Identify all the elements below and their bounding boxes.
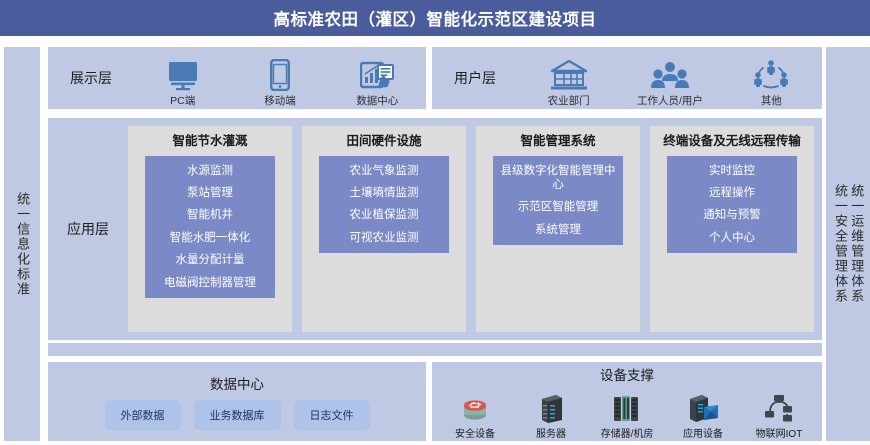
sidebar-left-label: 统一信息化标准 (15, 192, 29, 297)
architecture-diagram: 高标准农田（灌区）智能化示范区建设项目 统一信息化标准 统一安全管理体系 统一运… (0, 0, 870, 445)
device-item-iot[interactable]: 物联网IOT (748, 391, 810, 440)
user-item-other-label: 其他 (761, 93, 782, 108)
app-group-smart-irrigation-card: 水源监测 泵站管理 智能机井 智能水肥一体化 水量分配计量 电磁阀控制器管理 (145, 156, 275, 298)
app-item[interactable]: 水源监测 (187, 162, 233, 180)
tablet-chart-icon (360, 57, 394, 91)
server-icon (538, 391, 564, 423)
monitor-icon (167, 57, 199, 91)
app-group-terminal-transmission-card: 实时监控 远程操作 通知与预警 个人中心 (667, 156, 797, 254)
user-item-staff-label: 工作人员/用户 (637, 93, 703, 108)
app-group-management-system-card: 县级数字化智能管理中心 示范区智能管理 系统管理 (493, 156, 623, 246)
device-support-items: 安全设备 (444, 391, 810, 440)
user-item-agriculture-dept[interactable]: 农业部门 (531, 57, 607, 108)
device-support-title: 设备支撑 (600, 364, 654, 384)
app-item[interactable]: 个人中心 (709, 229, 755, 247)
app-item[interactable]: 可视农业监测 (349, 229, 418, 247)
app-item[interactable]: 系统管理 (535, 221, 581, 239)
display-item-datacenter-label: 数据中心 (356, 93, 398, 108)
device-item-storage[interactable]: 存储器/机房 (596, 391, 658, 440)
people-cycle-icon (753, 57, 789, 91)
people-group-icon (651, 57, 689, 91)
display-item-pc-label: PC端 (170, 93, 195, 108)
display-item-datacenter[interactable]: 数据中心 (339, 57, 415, 108)
data-center-title: 数据中心 (210, 373, 264, 393)
app-item[interactable]: 农业气象监测 (349, 162, 418, 180)
device-item-security[interactable]: 安全设备 (444, 391, 506, 440)
data-center-items: 外部数据 业务数据库 日志文件 (105, 400, 370, 430)
data-center-item-business-db[interactable]: 业务数据库 (194, 400, 281, 430)
application-layer-band: 应用层 智能节水灌溉 水源监测 泵站管理 智能机井 智能水肥一体化 水量分配计量… (48, 118, 822, 340)
security-router-icon (458, 391, 492, 423)
device-support-band: 设备支撑 (432, 362, 822, 441)
device-item-storage-label: 存储器/机房 (601, 425, 654, 440)
device-item-security-label: 安全设备 (455, 425, 495, 440)
display-item-pc[interactable]: PC端 (145, 57, 221, 108)
mobile-icon (270, 57, 290, 91)
device-item-application-label: 应用设备 (683, 425, 723, 440)
app-group-management-system: 智能管理系统 县级数字化智能管理中心 示范区智能管理 系统管理 (476, 126, 640, 332)
data-center-band: 数据中心 外部数据 业务数据库 日志文件 (48, 362, 426, 441)
app-group-field-hardware-title: 田间硬件设施 (346, 134, 421, 150)
data-center-item-log-file[interactable]: 日志文件 (294, 400, 370, 430)
application-device-icon (687, 391, 719, 423)
user-item-agriculture-dept-label: 农业部门 (548, 93, 590, 108)
sidebar-left-standard: 统一信息化标准 (4, 47, 40, 441)
iot-network-icon (763, 391, 795, 423)
government-building-icon (549, 57, 589, 91)
sidebar-right-ops-label: 统一运维管理体系 (849, 184, 863, 304)
user-item-other[interactable]: 其他 (733, 57, 809, 108)
display-item-mobile[interactable]: 移动端 (242, 57, 318, 108)
app-group-field-hardware: 田间硬件设施 农业气象监测 土壤墒情监测 农业植保监测 可视农业监测 (302, 126, 466, 332)
app-item[interactable]: 泵站管理 (187, 184, 233, 202)
app-group-terminal-transmission-title: 终端设备及无线远程传输 (663, 134, 801, 150)
app-item[interactable]: 实时监控 (709, 162, 755, 180)
app-group-terminal-transmission: 终端设备及无线远程传输 实时监控 远程操作 通知与预警 个人中心 (650, 126, 814, 332)
app-group-field-hardware-card: 农业气象监测 土壤墒情监测 农业植保监测 可视农业监测 (319, 156, 449, 254)
device-item-iot-label: 物联网IOT (756, 425, 803, 440)
sidebar-right-security-label: 统一安全管理体系 (833, 184, 847, 304)
page-title: 高标准农田（灌区）智能化示范区建设项目 (274, 6, 597, 30)
user-layer-items: 农业部门 工作人员/用户 (518, 46, 822, 110)
app-item[interactable]: 示范区智能管理 (518, 198, 599, 216)
app-group-smart-irrigation: 智能节水灌溉 水源监测 泵站管理 智能机井 智能水肥一体化 水量分配计量 电磁阀… (128, 126, 292, 332)
application-layer-groups: 智能节水灌溉 水源监测 泵站管理 智能机井 智能水肥一体化 水量分配计量 电磁阀… (128, 118, 822, 340)
app-item[interactable]: 农业植保监测 (349, 206, 418, 224)
storage-rack-icon (612, 391, 642, 423)
user-layer-band: 用户层 农业部门 (432, 47, 822, 109)
application-layer-label: 应用层 (48, 219, 128, 239)
device-item-server-label: 服务器 (536, 425, 566, 440)
app-item[interactable]: 水量分配计量 (175, 251, 244, 269)
user-layer-label: 用户层 (432, 68, 518, 88)
display-layer-items: PC端 移动端 (134, 46, 426, 110)
layer-separator-band (48, 343, 822, 356)
app-group-management-system-title: 智能管理系统 (520, 134, 595, 150)
data-center-item-external[interactable]: 外部数据 (105, 400, 181, 430)
user-item-staff[interactable]: 工作人员/用户 (632, 57, 708, 108)
app-group-smart-irrigation-title: 智能节水灌溉 (172, 134, 247, 150)
app-item[interactable]: 通知与预警 (703, 206, 761, 224)
display-layer-band: 展示层 PC端 (48, 47, 426, 109)
page-title-bar: 高标准农田（灌区）智能化示范区建设项目 (0, 0, 870, 36)
app-item[interactable]: 智能机井 (187, 206, 233, 224)
app-item[interactable]: 远程操作 (709, 184, 755, 202)
app-item[interactable]: 土壤墒情监测 (349, 184, 418, 202)
display-layer-label: 展示层 (48, 68, 134, 88)
app-item[interactable]: 智能水肥一体化 (170, 229, 251, 247)
sidebar-right-governance: 统一安全管理体系 统一运维管理体系 (826, 47, 870, 441)
app-item[interactable]: 县级数字化智能管理中心 (497, 162, 619, 195)
display-item-mobile-label: 移动端 (264, 93, 296, 108)
device-item-application[interactable]: 应用设备 (672, 391, 734, 440)
device-item-server[interactable]: 服务器 (520, 391, 582, 440)
app-item[interactable]: 电磁阀控制器管理 (164, 274, 256, 292)
